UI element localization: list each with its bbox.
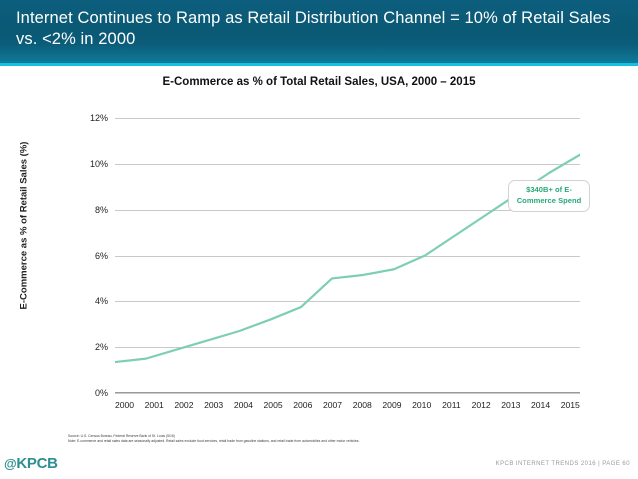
y-axis-tick-label: 12% (90, 113, 108, 123)
x-axis-tick-label: 2013 (496, 400, 525, 410)
x-axis-tick-label: 2012 (467, 400, 496, 410)
kpcb-logo: @KPCB (4, 455, 58, 472)
x-axis-tick-label: 2014 (526, 400, 555, 410)
y-axis-tick-label: 4% (95, 296, 108, 306)
x-axis-tick-label: 2003 (199, 400, 228, 410)
header-accent-bar (0, 63, 638, 66)
y-axis-tick-label: 2% (95, 342, 108, 352)
footer-page-info: KPCB INTERNET TRENDS 2016 | PAGE 60 (496, 461, 630, 467)
y-axis-title: E-Commerce as % of Retail Sales (%) (19, 106, 30, 346)
slide-header: Internet Continues to Ramp as Retail Dis… (0, 0, 638, 63)
x-axis-tick-label: 2000 (110, 400, 139, 410)
x-axis-tick-label: 2008 (348, 400, 377, 410)
slide-title: Internet Continues to Ramp as Retail Dis… (16, 8, 622, 50)
at-icon: @ (4, 456, 16, 471)
x-axis-tick-label: 2015 (556, 400, 585, 410)
kpcb-logo-text: KPCB (16, 455, 57, 472)
chart-title: E-Commerce as % of Total Retail Sales, U… (0, 76, 638, 88)
x-axis-tick-label: 2007 (318, 400, 347, 410)
x-axis-tick-labels: 2000200120022003200420052006200720082009… (110, 400, 585, 410)
x-axis-tick-label: 2002 (169, 400, 198, 410)
ecommerce-share-line (115, 118, 580, 393)
plot-area: 0%2%4%6%8%10%12% (115, 118, 580, 393)
x-axis-tick-label: 2011 (437, 400, 466, 410)
y-axis-tick-label: 8% (95, 205, 108, 215)
x-axis-tick-label: 2001 (140, 400, 169, 410)
x-axis-tick-label: 2004 (229, 400, 258, 410)
callout-ecommerce-spend: $340B+ of E-Commerce Spend (508, 180, 590, 212)
x-axis-tick-label: 2009 (377, 400, 406, 410)
footnote-note: Note: E-commerce and retail sales data a… (68, 439, 568, 444)
footnotes: Source: U.S. Census Bureau, Federal Rese… (68, 434, 568, 444)
x-axis-tick-label: 2006 (288, 400, 317, 410)
x-axis-tick-label: 2005 (259, 400, 288, 410)
y-axis-tick-label: 10% (90, 159, 108, 169)
gridline: 0% (115, 393, 580, 394)
x-axis-tick-label: 2010 (407, 400, 436, 410)
chart-container: E-Commerce as % of Total Retail Sales, U… (0, 70, 638, 425)
y-axis-tick-label: 6% (95, 251, 108, 261)
y-axis-tick-label: 0% (95, 388, 108, 398)
